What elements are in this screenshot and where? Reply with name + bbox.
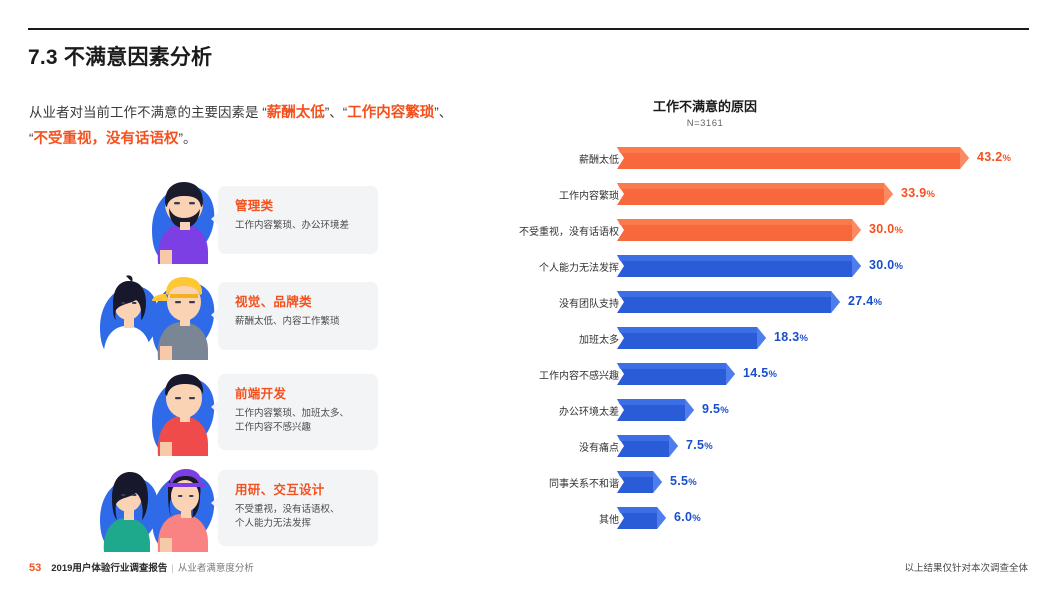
chart-category-label: 加班太多 [579, 331, 619, 346]
chart-bar-row: 没有团队支持27.4% [505, 285, 1057, 321]
chart-category-label: 不受重视，没有话语权 [519, 223, 619, 238]
persona-card-list: 管理类 工作内容繁琐、办公环境差 [0, 178, 520, 562]
chart-value-label: 9.5% [702, 402, 729, 416]
bar-chart: 工作不满意的原因 N=3161 薪酬太低43.2%工作内容繁琐33.9%不受重视… [505, 96, 1057, 536]
persona-desc: 薪酬太低、内容工作繁琐 [235, 315, 366, 329]
persona-title: 用研、交互设计 [235, 479, 366, 498]
persona-card[interactable]: 用研、交互设计 不受重视，没有话语权、 个人能力无法发挥 [218, 470, 378, 546]
intro-sep-2: 、 [439, 105, 453, 120]
chart-category-label: 其他 [599, 511, 619, 526]
footer-subsection: 从业者满意度分析 [178, 563, 254, 574]
woman-and-capped-man-avatar [96, 274, 218, 360]
chart-value-label: 7.5% [686, 438, 713, 452]
bearded-man-purple-shirt-avatar [136, 178, 218, 264]
chart-bar-row: 个人能力无法发挥30.0% [505, 249, 1057, 285]
chart-bar-row: 工作内容繁琐33.9% [505, 177, 1057, 213]
persona-title: 视觉、品牌类 [235, 291, 366, 310]
chart-bar-row: 不受重视，没有话语权30.0% [505, 213, 1057, 249]
chart-value-label: 43.2% [977, 150, 1011, 164]
footer-separator: | [171, 563, 173, 574]
chart-bar[interactable] [617, 471, 662, 493]
chart-bar[interactable] [617, 147, 969, 169]
highlight-factor-2: 工作内容繁琐 [347, 105, 434, 121]
chart-value-label: 6.0% [674, 510, 701, 524]
chart-bar[interactable] [617, 363, 735, 385]
chart-category-label: 没有团队支持 [559, 295, 619, 310]
chart-bar-row: 其他6.0% [505, 501, 1057, 537]
header-divider [28, 28, 1029, 30]
intro-sep-1: 、 [329, 105, 343, 120]
persona-card[interactable]: 视觉、品牌类 薪酬太低、内容工作繁琐 [218, 282, 378, 350]
slide-page: 7.3 不满意因素分析 从业者对当前工作不满意的主要因素是 “薪酬太低”、“工作… [0, 0, 1057, 600]
chart-bar[interactable] [617, 183, 893, 205]
chart-bar-row: 薪酬太低43.2% [505, 141, 1057, 177]
chart-bar-row: 办公环境太差9.5% [505, 393, 1057, 429]
chart-value-label: 14.5% [743, 366, 777, 380]
two-women-avatar [96, 466, 218, 552]
chart-bar-row: 加班太多18.3% [505, 321, 1057, 357]
chart-plot-area: 薪酬太低43.2%工作内容繁琐33.9%不受重视，没有话语权30.0%个人能力无… [505, 141, 1057, 537]
man-red-shirt-avatar [136, 370, 218, 456]
persona-row: 管理类 工作内容繁琐、办公环境差 [0, 178, 520, 264]
chart-sample-size: N=3161 [505, 118, 905, 129]
persona-row: 用研、交互设计 不受重视，没有话语权、 个人能力无法发挥 [0, 466, 520, 552]
persona-title: 前端开发 [235, 383, 366, 402]
chart-bar[interactable] [617, 399, 694, 421]
persona-row: 视觉、品牌类 薪酬太低、内容工作繁琐 [0, 274, 520, 360]
chart-value-label: 30.0% [869, 222, 903, 236]
chart-bar[interactable] [617, 507, 666, 529]
chart-category-label: 薪酬太低 [579, 151, 619, 166]
chart-category-label: 办公环境太差 [559, 403, 619, 418]
chart-bar[interactable] [617, 291, 840, 313]
chart-title: 工作不满意的原因 [505, 96, 905, 115]
page-title: 7.3 不满意因素分析 [28, 41, 212, 71]
chart-value-label: 18.3% [774, 330, 808, 344]
section-title-text: 不满意因素分析 [64, 46, 212, 69]
chart-bar-row: 工作内容不感兴趣14.5% [505, 357, 1057, 393]
chart-bar[interactable] [617, 435, 678, 457]
highlight-factor-1: 薪酬太低 [267, 105, 325, 121]
intro-paragraph: 从业者对当前工作不满意的主要因素是 “薪酬太低”、“工作内容繁琐”、 “不受重视… [29, 100, 509, 152]
chart-value-label: 30.0% [869, 258, 903, 272]
persona-desc: 不受重视，没有话语权、 个人能力无法发挥 [235, 503, 366, 531]
chart-bar[interactable] [617, 327, 766, 349]
footer-note: 以上结果仅针对本次调查全体 [904, 560, 1028, 574]
persona-title: 管理类 [235, 195, 366, 214]
chart-bar-row: 同事关系不和谐5.5% [505, 465, 1057, 501]
persona-desc: 工作内容繁琐、办公环境差 [235, 219, 366, 233]
footer-left: 532019用户体验行业调查报告|从业者满意度分析 [29, 560, 254, 574]
persona-row: 前端开发 工作内容繁琐、加班太多、 工作内容不感兴趣 [0, 370, 520, 456]
chart-value-label: 33.9% [901, 186, 935, 200]
chart-bar[interactable] [617, 255, 861, 277]
persona-card[interactable]: 前端开发 工作内容繁琐、加班太多、 工作内容不感兴趣 [218, 374, 378, 450]
intro-end: 。 [183, 131, 197, 146]
page-number: 53 [29, 562, 41, 574]
chart-category-label: 工作内容不感兴趣 [539, 367, 619, 382]
persona-card[interactable]: 管理类 工作内容繁琐、办公环境差 [218, 186, 378, 254]
chart-category-label: 没有痛点 [579, 439, 619, 454]
report-name: 2019用户体验行业调查报告 [51, 563, 167, 574]
chart-value-label: 27.4% [848, 294, 882, 308]
intro-text-lead: 从业者对当前工作不满意的主要因素是 [29, 105, 259, 120]
persona-desc: 工作内容繁琐、加班太多、 工作内容不感兴趣 [235, 407, 366, 435]
chart-category-label: 同事关系不和谐 [549, 475, 619, 490]
chart-category-label: 个人能力无法发挥 [539, 259, 619, 274]
chart-bar[interactable] [617, 219, 861, 241]
chart-bar-row: 没有痛点7.5% [505, 429, 1057, 465]
chart-value-label: 5.5% [670, 474, 697, 488]
chart-category-label: 工作内容繁琐 [559, 187, 619, 202]
highlight-factor-3: 不受重视，没有话语权 [34, 131, 179, 147]
section-number: 7.3 [28, 46, 58, 69]
